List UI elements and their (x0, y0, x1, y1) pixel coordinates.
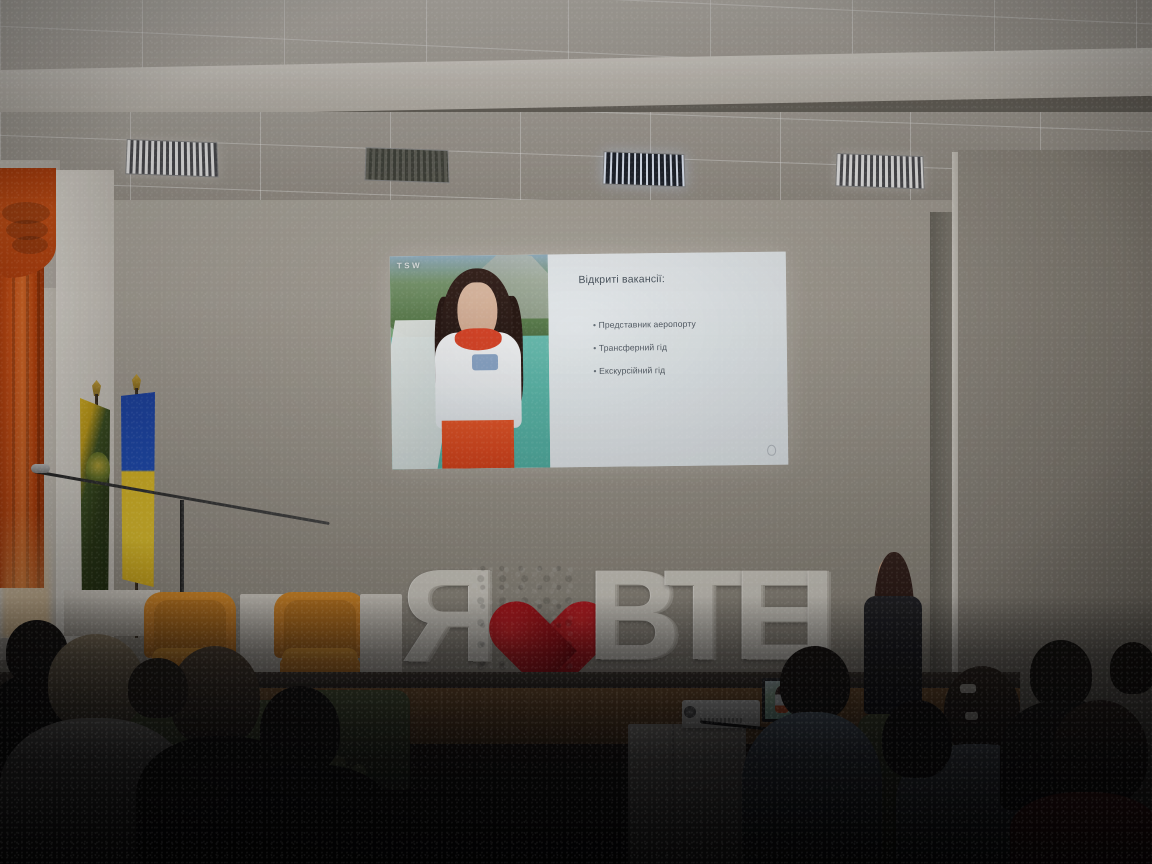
slide-photo-person (428, 268, 529, 469)
auditorium-scene: TSW Відкриті вакансії: Представник аероп… (0, 0, 1152, 864)
window-curtain (0, 168, 56, 638)
projector-lens-icon (684, 706, 696, 718)
slide-bullet-item: Представник аеропорту (593, 318, 777, 330)
hair-clip-icon (960, 684, 976, 693)
ceiling-light-fixture-1 (125, 139, 218, 177)
audience-head (1052, 700, 1148, 804)
ceiling-light-fixture-4 (835, 153, 924, 189)
ceiling-light-fixture-3 (602, 151, 685, 187)
slide-title: Відкриті вакансії: (578, 272, 776, 286)
slide-photo: TSW (390, 254, 551, 469)
slide-bullet-item: Екскурсійний гід (593, 364, 777, 376)
projected-slide: TSW Відкриті вакансії: Представник аероп… (390, 252, 789, 470)
window-light-glow (2, 508, 50, 638)
microphone-icon[interactable] (31, 464, 50, 473)
institutional-flag (80, 398, 110, 598)
slide-watermark-icon (767, 445, 776, 456)
slide-logo: TSW (397, 261, 422, 270)
hair-clip-icon (965, 712, 978, 720)
cabinet-door-seam (672, 724, 674, 864)
audience-head (260, 686, 340, 774)
stage-letter-t: Т (664, 560, 740, 673)
equipment-cabinet (628, 724, 746, 864)
slide-bullet-list: Представник аеропорту Трансферний гід Ек… (593, 318, 777, 376)
slide-bullet-item: Трансферний гід (593, 341, 777, 353)
slide-text-panel: Відкриті вакансії: Представник аеропорту… (548, 252, 788, 468)
audience-head (1110, 642, 1152, 694)
presenter-blazer (864, 596, 922, 714)
audience-head (780, 646, 850, 720)
audience-head (1030, 640, 1092, 708)
audience-shoulders (224, 764, 392, 864)
audience-shoulders (742, 712, 882, 864)
audience-head (882, 700, 952, 778)
ceiling-light-fixture-2 (364, 147, 449, 183)
audience-shoulders (1010, 792, 1152, 864)
audience-head (128, 658, 188, 718)
